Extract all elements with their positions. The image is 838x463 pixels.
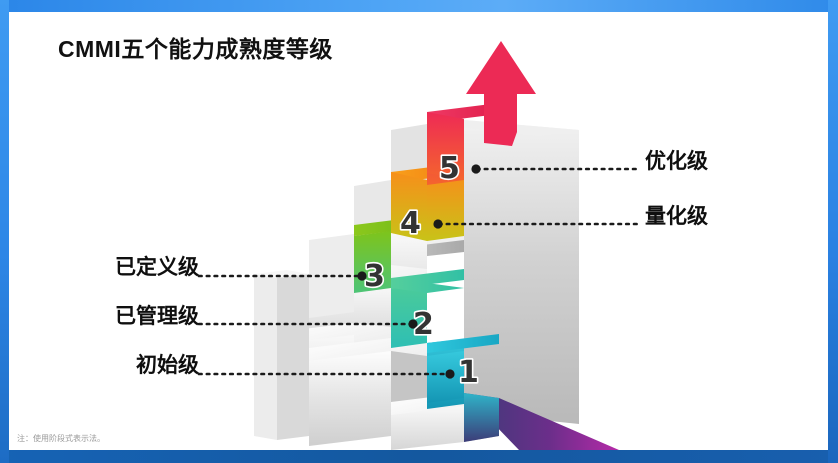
slide-content-area: CMMI五个能力成熟度等级 [9,12,828,450]
slide-canvas: CMMI五个能力成熟度等级 [0,0,838,463]
step-number-5: 5 [439,151,460,186]
step-label-2: 已管理级 [39,300,199,330]
step-number-3: 3 [364,259,385,294]
step-label-3: 已定义级 [39,251,199,281]
step-label-5: 优化级 [645,145,708,175]
step-number-2: 2 [413,307,434,342]
staircase-diagram: 1 2 3 4 5 [9,12,828,450]
frame-border-bottom [0,450,838,463]
step-number-4: 4 [400,206,421,241]
footnote-text: 注：使用阶段式表示法。 [17,433,105,444]
step-label-1: 初始级 [39,349,199,379]
frame-border-right [828,0,838,463]
frame-border-top [0,0,838,12]
frame-border-left [0,0,9,463]
step-label-4: 量化级 [645,200,708,230]
step-number-1: 1 [458,355,479,390]
